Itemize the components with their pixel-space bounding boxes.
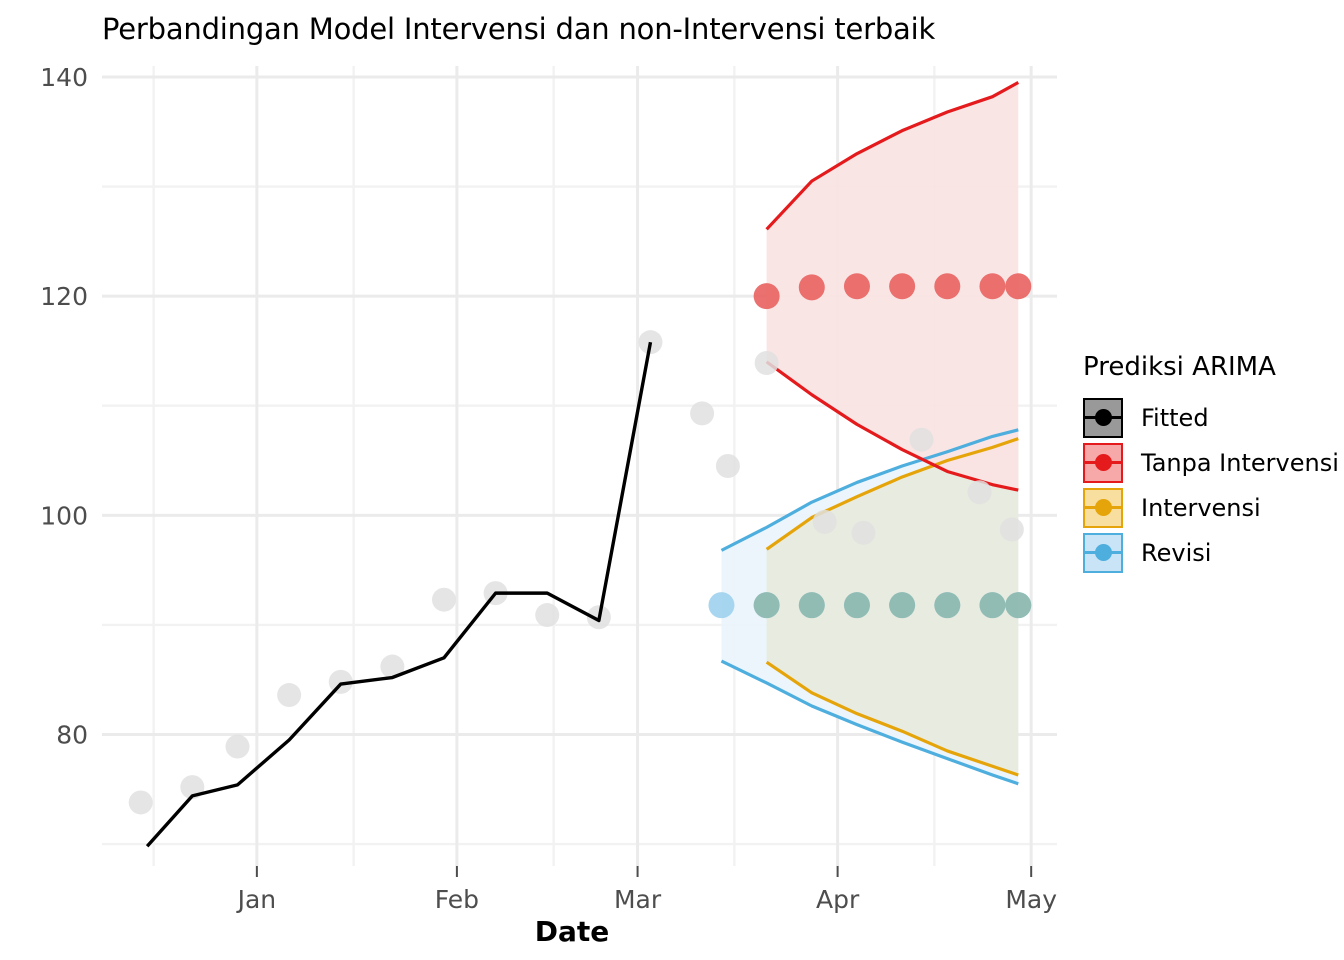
legend-dot-glyph xyxy=(1095,409,1112,426)
chart-root: Perbandingan Model Intervensi dan non-In… xyxy=(0,0,1344,960)
y-tick-label: 80 xyxy=(56,720,88,749)
x-axis-title: Date xyxy=(535,915,610,948)
legend-item-tanpa-intervensi[interactable]: Tanpa Intervensi xyxy=(1083,440,1333,485)
legend-label-fitted: Fitted xyxy=(1141,404,1209,432)
legend: Prediksi ARIMA Fitted Tanpa Intervensi I… xyxy=(1083,352,1333,575)
legend-item-revisi[interactable]: Revisi xyxy=(1083,530,1333,575)
legend-label-tanpa-intervensi: Tanpa Intervensi xyxy=(1141,449,1339,477)
y-tick-label: 100 xyxy=(40,501,88,530)
legend-title: Prediksi ARIMA xyxy=(1083,352,1333,382)
legend-label-intervensi: Intervensi xyxy=(1141,494,1261,522)
legend-item-fitted[interactable]: Fitted xyxy=(1083,395,1333,440)
x-axis-tick-labels: JanFebMarAprMay xyxy=(236,885,1058,914)
y-tick-label: 140 xyxy=(40,63,88,92)
x-axis-tick-marks xyxy=(257,866,1031,877)
legend-dot-glyph xyxy=(1095,454,1112,471)
legend-label-revisi: Revisi xyxy=(1141,539,1211,567)
legend-key-revisi xyxy=(1083,533,1123,573)
x-tick-label: Jan xyxy=(236,885,277,914)
x-tick-label: Mar xyxy=(614,885,662,914)
x-tick-label: May xyxy=(1005,885,1057,914)
x-tick-label: Apr xyxy=(816,885,860,914)
y-tick-label: 120 xyxy=(40,282,88,311)
legend-item-intervensi[interactable]: Intervensi xyxy=(1083,485,1333,530)
x-tick-label: Feb xyxy=(435,885,479,914)
legend-dot-glyph xyxy=(1095,499,1112,516)
legend-key-intervensi xyxy=(1083,488,1123,528)
y-axis-tick-labels: 14012010080 xyxy=(40,63,88,750)
fitted-line xyxy=(147,342,650,846)
legend-dot-glyph xyxy=(1095,544,1112,561)
legend-key-fitted xyxy=(1083,398,1123,438)
legend-key-tanpa-intervensi xyxy=(1083,443,1123,483)
